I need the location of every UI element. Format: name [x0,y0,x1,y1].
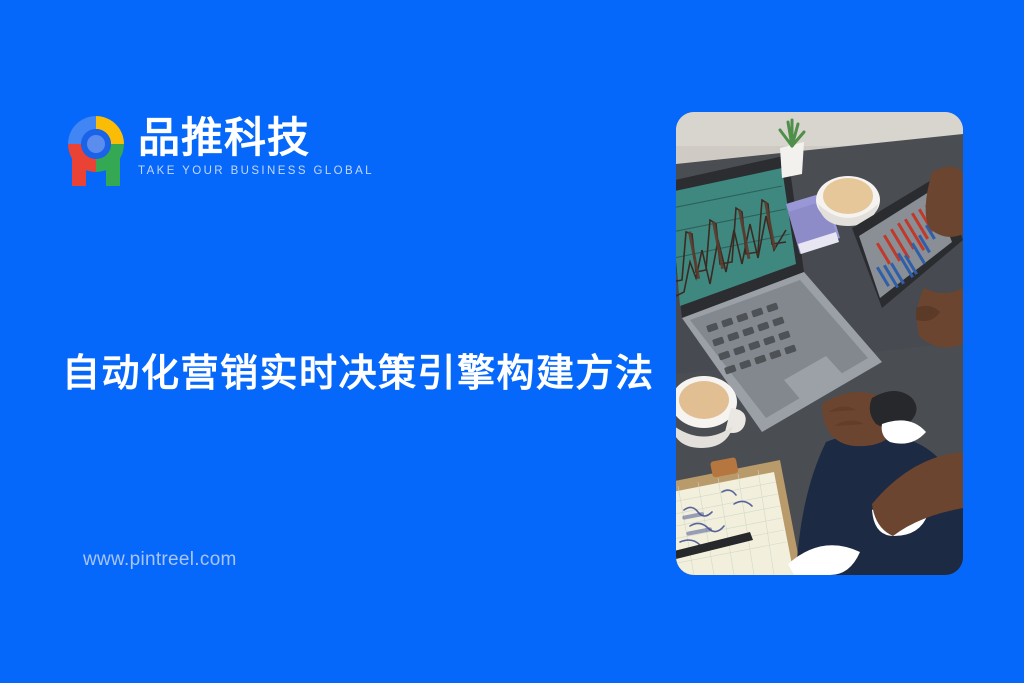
hero-photo [676,112,963,575]
hero-photo-illustration [676,112,963,575]
site-url: www.pintreel.com [83,548,237,572]
brand-name: 品推科技 [138,116,374,160]
brand-text-block: 品推科技 TAKE YOUR BUSINESS GLOBAL [138,112,374,178]
pintreel-logo-icon [64,112,128,188]
banner-canvas: 品推科技 TAKE YOUR BUSINESS GLOBAL 自动化营销实时决策… [0,0,1024,683]
headline-title: 自动化营销实时决策引擎构建方法 [62,350,662,398]
brand-tagline: TAKE YOUR BUSINESS GLOBAL [138,165,374,178]
brand-lockup: 品推科技 TAKE YOUR BUSINESS GLOBAL [64,112,374,188]
